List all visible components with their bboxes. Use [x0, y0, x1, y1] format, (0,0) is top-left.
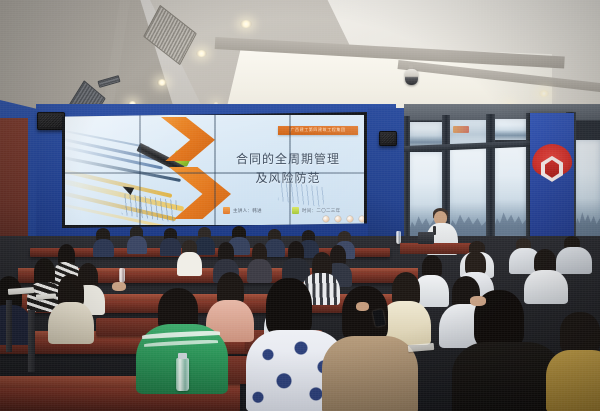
hand [470, 296, 486, 306]
desk-leg [28, 310, 35, 372]
attendee-torso [524, 270, 568, 304]
attendee-torso [322, 336, 418, 411]
attendee-torso [177, 252, 202, 276]
water-bottle [176, 358, 189, 391]
window-mullion [404, 116, 410, 254]
attendee-torso [93, 239, 114, 257]
ceiling-speaker-right [379, 131, 397, 146]
speaker-grill [382, 134, 394, 143]
water-bottle [119, 268, 125, 283]
window-mullion [486, 114, 495, 254]
attendee-torso [48, 302, 94, 344]
presenter-laptop [418, 232, 434, 244]
downlight [539, 90, 549, 97]
notepad [36, 293, 56, 299]
attendee-torso [127, 236, 147, 254]
camera-dome-icon [405, 69, 418, 85]
desk-leg [6, 300, 12, 352]
attendee-torso [556, 247, 592, 274]
attendee-torso [546, 350, 600, 411]
conference-room-photo: 广西建工第四建筑工程集团 合同的全周期管理 及风险防范 主讲人：韩进 时间：二〇… [0, 0, 600, 411]
dome-security-camera [409, 63, 418, 85]
attendee-hair [560, 312, 600, 354]
attendee-torso [247, 259, 272, 283]
attendee-hair [266, 278, 312, 336]
window-transom [494, 119, 527, 140]
downlight [196, 50, 207, 57]
water-bottle-cap [178, 353, 187, 359]
window-pane [494, 143, 527, 251]
wall-banner [530, 113, 574, 239]
downlight [157, 79, 167, 86]
company-emblem-icon [532, 144, 572, 188]
attendee-torso [160, 238, 181, 256]
attendee-torso [195, 237, 215, 255]
downlight [240, 20, 252, 28]
hand [112, 282, 126, 291]
wall-right-pillar [368, 108, 408, 254]
presenter-table [400, 243, 472, 254]
screen-glare [65, 115, 364, 225]
ceiling-speaker-left [37, 112, 65, 130]
video-wall-screen[interactable]: 广西建工第四建筑工程集团 合同的全周期管理 及风险防范 主讲人：韩进 时间：二〇… [62, 112, 367, 228]
presenter-water-bottle [396, 231, 401, 244]
attendee-torso [265, 239, 285, 257]
screen-surface: 广西建工第四建筑工程集团 合同的全周期管理 及风险防范 主讲人：韩进 时间：二〇… [65, 115, 364, 225]
speaker-grill [40, 115, 62, 127]
window-reflection [453, 126, 469, 133]
hand [356, 302, 369, 311]
